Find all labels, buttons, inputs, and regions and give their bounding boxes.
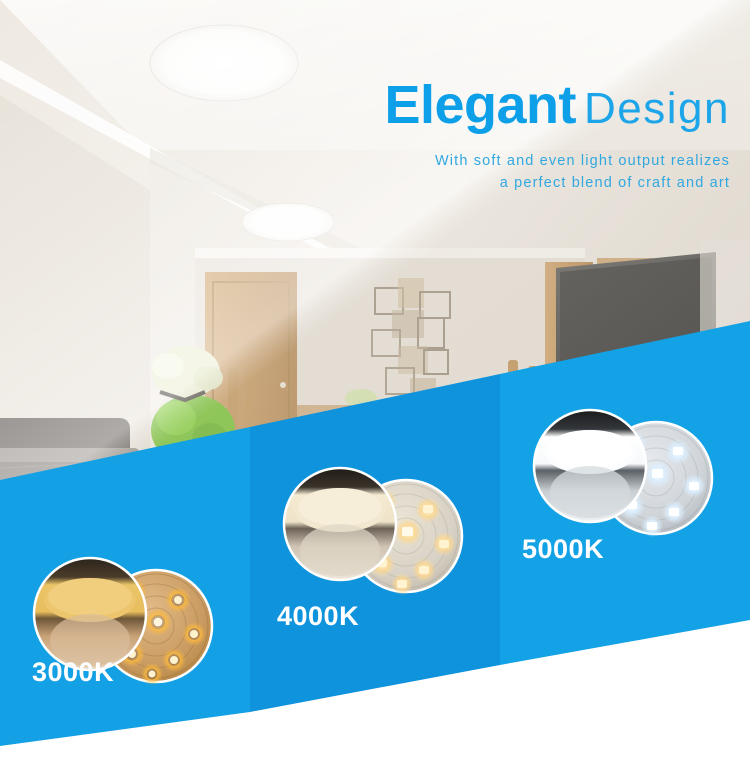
lamp-dome-4000k [284,468,396,580]
temp-label-4000k: 4000K [277,601,359,632]
headline-strong: Elegant [384,75,576,135]
headline-block: ElegantDesign With soft and even light o… [330,78,730,195]
temp-label-3000k: 3000K [32,657,114,688]
lamp-group-4000k [278,466,468,596]
subtitle-line-2: a perfect blend of craft and art [330,172,730,194]
headline-line: ElegantDesign [330,78,730,132]
lamp-group-5000k [528,408,718,538]
lamp-dome-3000k [34,558,146,670]
temp-label-5000k: 5000K [522,534,604,565]
headline-light: Design [584,84,730,133]
subtitle: With soft and even light output realizes… [330,150,730,195]
subtitle-line-1: With soft and even light output realizes [330,150,730,172]
product-poster: ElegantDesign With soft and even light o… [0,0,750,778]
lamp-dome-5000k [534,410,646,522]
